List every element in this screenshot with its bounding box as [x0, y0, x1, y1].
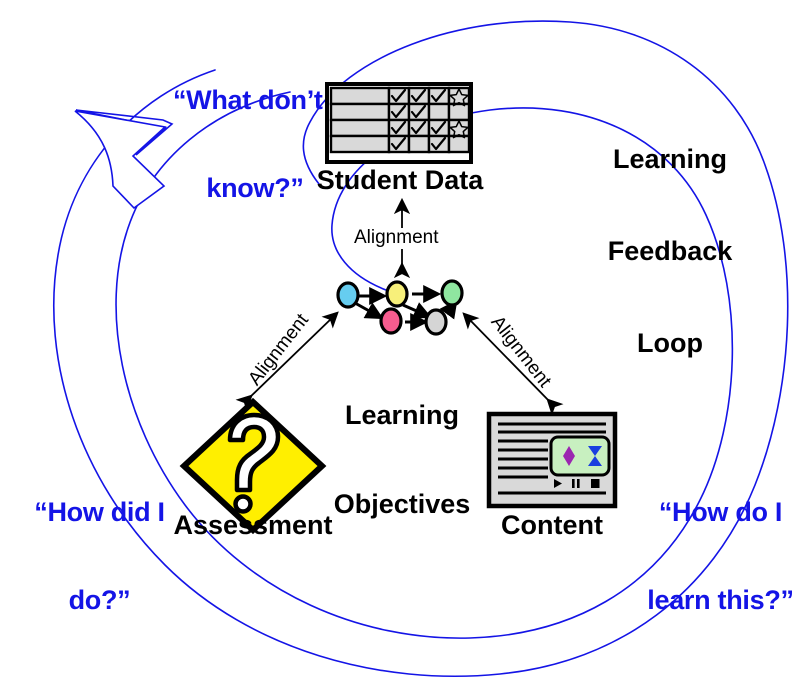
question-line-1: “How did I — [12, 498, 187, 527]
question-line-2: learn this?” — [638, 586, 801, 615]
pause-icon — [577, 479, 580, 488]
diagram-canvas: “What don’t I know?” Learning Feedback L… — [0, 0, 801, 677]
question-how-did-i-do: “How did I do?” — [12, 440, 187, 673]
pause-icon — [572, 479, 575, 488]
content-label: Content — [472, 511, 632, 541]
content-media-panel — [551, 437, 609, 475]
stop-icon — [591, 479, 600, 488]
question-line-1: “How do I — [638, 498, 801, 527]
question-how-do-i-learn-this: “How do I learn this?” — [638, 440, 801, 673]
question-line-2: do?” — [12, 586, 187, 615]
